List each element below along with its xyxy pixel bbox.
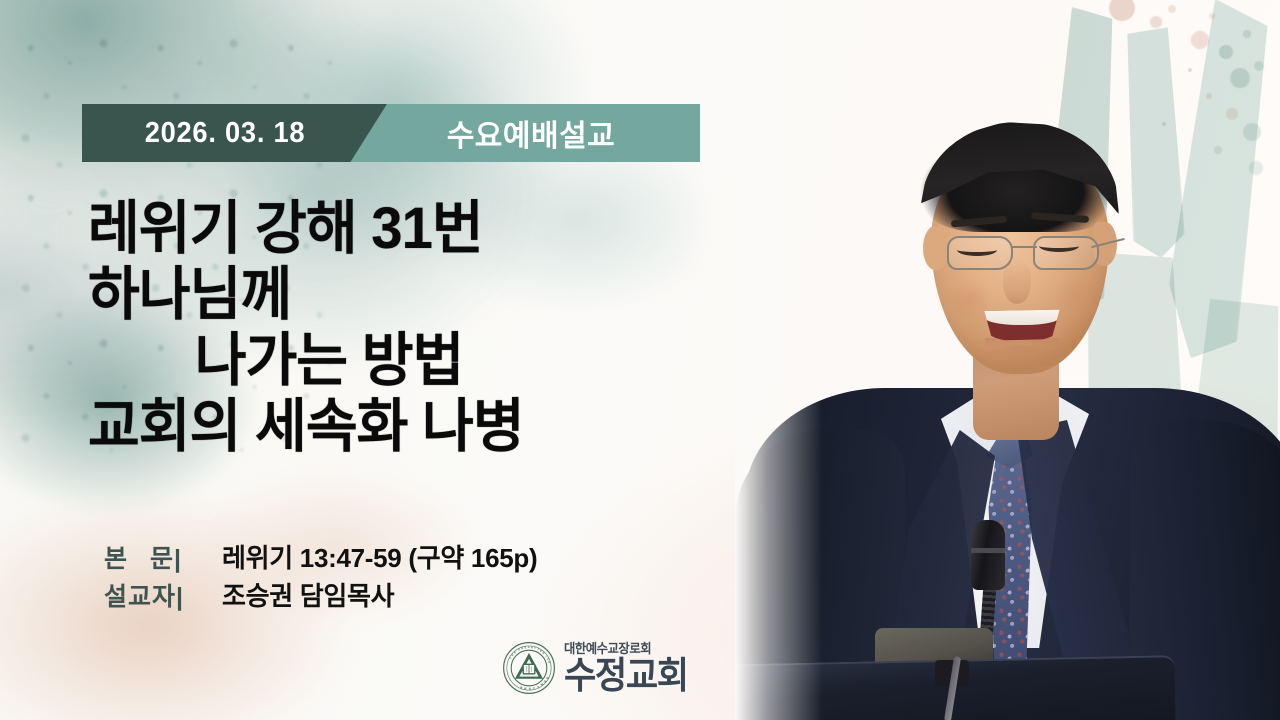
svg-text:S: S: [528, 646, 530, 649]
svg-text:A: A: [546, 658, 550, 661]
svg-text:T: T: [509, 657, 513, 660]
svg-text:N: N: [547, 661, 550, 664]
meta-label-scripture: 본문|: [104, 539, 222, 575]
sermon-date: 2026. 03. 18: [91, 104, 360, 162]
meta-value-preacher: 조승권 담임목사: [222, 576, 394, 613]
sermon-title-line-4: 교회의 세속화 나병: [88, 394, 709, 460]
eyeglass-bridge: [1011, 246, 1037, 248]
sermon-title-line-3: 나가는 방법: [88, 328, 709, 394]
church-seal-emblem: T H E P R E S B Y T E R I A N 대 한 예 수 교: [502, 641, 556, 695]
cheek-right: [1053, 276, 1099, 316]
meta-label-preacher: 설교자|: [104, 577, 222, 613]
svg-text:P: P: [518, 648, 521, 652]
meta-row-preacher: 설교자| 조승권 담임목사: [104, 576, 537, 614]
svg-text:I: I: [545, 655, 548, 658]
svg-text:R: R: [521, 647, 524, 650]
church-logo-text: 대한예수교장로회 수정교회: [564, 642, 694, 694]
church-logo: T H E P R E S B Y T E R I A N 대 한 예 수 교: [502, 641, 694, 695]
mouth-smiling: [981, 306, 1063, 342]
meta-row-scripture: 본문| 레위기 13:47-59 (구약 165p): [104, 538, 537, 576]
meta-value-scripture: 레위기 13:47-59 (구약 165p): [222, 538, 537, 575]
microphone-band: [971, 548, 1005, 553]
svg-text:로: 로: [523, 686, 527, 690]
svg-text:Y: Y: [534, 647, 537, 650]
svg-text:B: B: [531, 646, 533, 649]
svg-text:E: E: [524, 646, 526, 649]
church-name: 수정교회: [564, 657, 688, 694]
sermon-slide: 2026. 03. 18 수요예배설교 레위기 강해 31번 하나님께 나가는 …: [0, 0, 1280, 720]
eye-left-closed-smiling: [957, 244, 997, 256]
sermon-meta: 본문| 레위기 13:47-59 (구약 165p) 설교자| 조승권 담임목사: [104, 538, 537, 614]
chin-shadow: [975, 346, 1067, 376]
svg-text:대: 대: [545, 676, 550, 681]
svg-text:R: R: [542, 652, 546, 656]
header-bar: 2026. 03. 18 수요예배설교: [82, 104, 700, 162]
sermon-title-line-2: 하나님께: [88, 262, 709, 328]
svg-text:E: E: [514, 651, 517, 655]
svg-text:H: H: [511, 654, 515, 657]
sermon-title-line-1: 레위기 강해 31번: [88, 196, 709, 262]
denomination-name: 대한예수교장로회: [564, 642, 688, 655]
microphone-head: [971, 520, 1005, 590]
preacher-photo: [735, 0, 1280, 720]
eye-right-closed-smiling: [1039, 240, 1079, 252]
service-category: 수요예배설교: [368, 104, 700, 162]
sermon-title-block: 레위기 강해 31번 하나님께 나가는 방법 교회의 세속화 나병: [88, 196, 728, 460]
